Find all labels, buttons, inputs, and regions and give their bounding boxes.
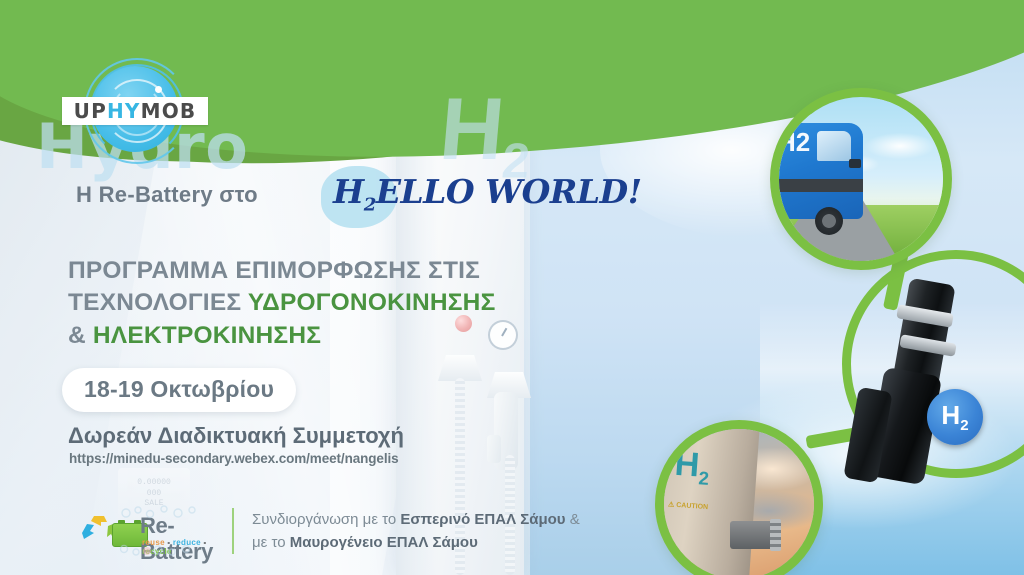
date-badge: 18-19 Οκτωβρίου (62, 368, 296, 412)
van-h2-label: H2 (777, 127, 810, 158)
tank-flange (730, 521, 776, 549)
footer: Re-Battery reuse - reduce - recycle Συνδ… (78, 505, 580, 557)
coorg-line-1: Συνδιοργάνωση με το Εσπερινό ΕΠΑΛ Σάμου … (252, 508, 580, 531)
headline-line-3: & ΗΛΕΚΤΡΟΚΙΝΗΣΗΣ (68, 320, 538, 352)
van-wheel (815, 207, 843, 235)
tank-photo-inner: H2 ⚠ CAUTION (664, 429, 814, 575)
charging-nozzle-trigger (487, 435, 501, 463)
hydrogen-van-photo: H2 (770, 88, 952, 270)
headline-line-2-green: ΥΔΡΟΓΟΝΟΚΙΝΗΣΗΣ (248, 289, 496, 316)
nozzle-h2-badge: H2 (927, 389, 983, 445)
tank-warning-label: ⚠ CAUTION (668, 500, 709, 511)
hydrogen-nozzle-photo: H2 (845, 285, 1024, 485)
tank-h2-main: H (674, 445, 701, 485)
participation-text: Δωρεάν Διαδικτυακή Συμμετοχή (68, 423, 404, 449)
van-body: H2 (771, 123, 863, 219)
headline-line-2-plain: ΤΕΧΝΟΛΟΓΙΕΣ (68, 289, 248, 316)
van-mirror (849, 159, 861, 168)
coorg-line-2-plain: με το (252, 534, 290, 551)
nozzle-h2-main: H (941, 400, 960, 430)
headline-line-1: ΠΡΟΓΡΑΜΜΑ ΕΠΙΜΟΡΦΩΣΗΣ ΣΤΙΣ (68, 255, 538, 287)
kicker-text: Η Re-Battery στο (76, 182, 258, 208)
meter-line-2: 000 (147, 489, 161, 500)
footer-divider (232, 508, 234, 554)
coorganization-text: Συνδιοργάνωση με το Εσπερινό ΕΠΑΛ Σάμου … (252, 508, 580, 555)
meter-line-1: 0.00000 (137, 478, 171, 489)
van-photo-inner: H2 (779, 97, 943, 261)
tank-body: H2 ⚠ CAUTION (655, 420, 760, 575)
van-window (817, 131, 851, 161)
hydrogen-tank-photo: H2 ⚠ CAUTION (655, 420, 823, 575)
coorg-line-2: με το Μαυρογένειο ΕΠΑΛ Σάμου (252, 531, 580, 554)
tank-h2-label: H2 (673, 445, 711, 490)
page-title: ΠΡΟΓΡΑΜΜΑ ΕΠΙΜΟΡΦΩΣΗΣ ΣΤΙΣ ΤΕΧΝΟΛΟΓΙΕΣ Υ… (68, 255, 538, 352)
coorg-line-1-tail: & (566, 511, 580, 528)
promo-poster: 0.00000 000 SALE Hydro H2 UPHYMOB Η Re-B… (0, 0, 1024, 575)
uphymob-dot-icon (155, 86, 162, 93)
h2ello-sub: 2 (364, 195, 376, 216)
coorg-line-1-plain: Συνδιοργάνωση με το (252, 511, 400, 528)
join-url-link[interactable]: https://minedu-secondary.webex.com/meet/… (69, 451, 399, 466)
h2ello-world-logo: H2ELLO WORLD! (333, 172, 642, 216)
h2ello-rest: ELLO WORLD! (376, 172, 642, 211)
nozzle-h2-sub: 2 (960, 417, 968, 434)
headline-line-3-plain: & (68, 322, 93, 349)
uphymob-part-up: UP (74, 99, 107, 123)
bubbles-decoration-icon (118, 505, 214, 557)
uphymob-wordmark: UPHYMOB (74, 99, 197, 123)
rebattery-logo[interactable]: Re-Battery reuse - reduce - recycle (78, 505, 218, 557)
tank-h2-sub: 2 (698, 467, 710, 489)
van-side-stripe (771, 179, 863, 192)
coorg-line-1-bold: Εσπερινό ΕΠΑΛ Σάμου (400, 511, 565, 528)
uphymob-logo[interactable]: UPHYMOB (70, 62, 200, 167)
coorg-line-2-bold: Μαυρογένειο ΕΠΑΛ Σάμου (290, 534, 478, 551)
h2ello-text: H2ELLO WORLD! (333, 172, 642, 216)
headline-line-3-green: ΗΛΕΚΤΡΟΚΙΝΗΣΗΣ (93, 322, 321, 349)
nozzle-h2-label: H2 (941, 400, 968, 434)
h2ello-h: H (333, 172, 364, 211)
uphymob-part-mob: MOB (141, 99, 197, 123)
uphymob-wordmark-band: UPHYMOB (62, 97, 208, 125)
h2-watermark-main: H (436, 79, 509, 178)
van-cloud-1 (865, 133, 935, 159)
uphymob-part-hy: HY (107, 99, 141, 123)
headline-line-2: ΤΕΧΝΟΛΟΓΙΕΣ ΥΔΡΟΓΟΝΟΚΙΝΗΣΗΣ (68, 287, 538, 319)
